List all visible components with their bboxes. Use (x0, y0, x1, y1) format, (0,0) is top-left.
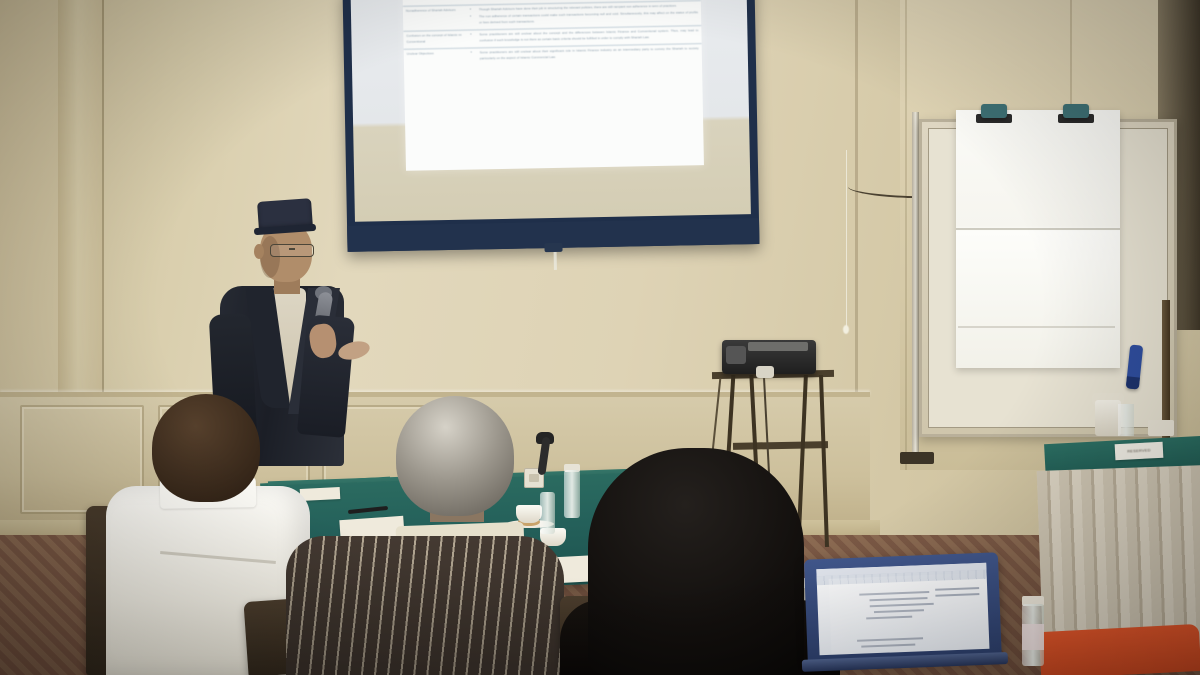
wall-edge (102, 0, 104, 420)
laptop-screen[interactable] (816, 563, 989, 655)
wainscot-rail (0, 392, 870, 397)
cord-end-light (843, 325, 849, 334)
wall-edge (905, 0, 907, 470)
flipchart-paper (956, 110, 1120, 368)
slide-row-label: Nonadherence of Shariah Advisors (403, 5, 471, 31)
reserved-name-card: RESERVED (1115, 442, 1164, 460)
marker-cap (1126, 376, 1140, 389)
water-bottle (540, 492, 555, 534)
head (396, 396, 514, 516)
slide-bullet: The non adherence of certain transaction… (479, 11, 698, 27)
slide-row-label: Confusion on the concept of Islamic vs C… (403, 30, 471, 49)
projection-screen-surface: The initial principle objective of the e… (351, 0, 751, 222)
drinking-glass (1118, 404, 1134, 436)
wall-column-left (58, 0, 102, 430)
slide-table: The initial principle objective of the e… (403, 0, 702, 67)
glasses-icon (270, 244, 314, 257)
projected-slide: The initial principle objective of the e… (403, 0, 704, 171)
printed-paper (300, 487, 341, 501)
paper-fold (958, 326, 1115, 328)
laptop-lid (804, 552, 1002, 663)
slide-row-label: Unclear Objectives (404, 48, 472, 67)
projector-top-plate (748, 342, 808, 351)
slide-bullet: Some practitioners are still unclear abo… (479, 29, 698, 45)
laptop[interactable] (804, 552, 1002, 671)
screen-pull-handle[interactable] (544, 243, 562, 252)
paper-fold (956, 228, 1120, 230)
screen-glare (829, 572, 990, 655)
presenter-ear (254, 244, 264, 259)
slide-row-bullets: Some practitioners are still unclear abo… (472, 44, 702, 66)
face-shadow (260, 236, 280, 278)
paper-clip-icon[interactable] (981, 104, 1007, 118)
head (152, 394, 260, 502)
conference-room-photo: The initial principle objective of the e… (0, 0, 1200, 675)
torso-shadow (286, 536, 564, 675)
hijab-head-and-torso (588, 448, 804, 675)
projector-power-plug (756, 366, 774, 378)
projector-lens-icon (726, 346, 746, 364)
orange-chair (1039, 624, 1200, 675)
table-box (1148, 420, 1174, 436)
water-bottle (564, 470, 580, 518)
slide-bullet: Some practitioners are still unclear abo… (480, 46, 699, 62)
bottle-label (1022, 624, 1044, 650)
projection-screen: The initial principle objective of the e… (343, 0, 760, 252)
flipchart-foot (900, 452, 934, 464)
hanging-cord (846, 150, 847, 330)
flipchart-stand-left (912, 112, 919, 460)
tea-cup (516, 505, 542, 523)
paper-clip-icon[interactable] (1063, 104, 1089, 118)
wall-seam (1070, 0, 1072, 120)
name-card-label: RESERVED (1115, 442, 1164, 460)
